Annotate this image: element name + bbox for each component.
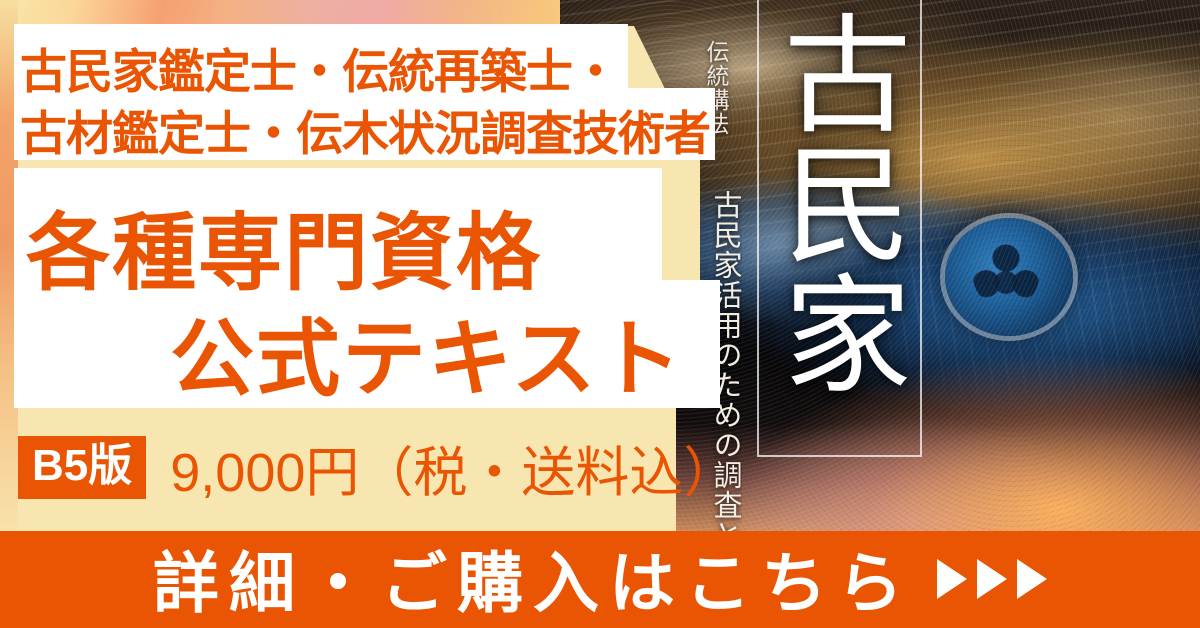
- cta-label: 詳細・ご購入はこちら: [153, 530, 913, 626]
- chevron-right-icon: [977, 559, 1007, 599]
- chevron-right-icon: [1017, 559, 1047, 599]
- cta-arrow-group: [937, 559, 1047, 599]
- qualification-list-line-2: 古材鑑定士・伝木状況調査技術者: [20, 95, 710, 164]
- price-row: B5版 9,000円（税・送料込）: [18, 428, 737, 507]
- headline-line-1: 各種専門資格: [26, 186, 542, 307]
- chevron-right-icon: [937, 559, 967, 599]
- price-amount: 9,000円（税・送料込）: [170, 428, 737, 507]
- headline-line-2: 公式テキスト: [170, 292, 683, 413]
- promo-banner: 伝統構法 古民家 古民家活用のための調査と再生の 古民家鑑定士・伝統再築士・ 古…: [0, 0, 1200, 628]
- book-cover-title: 古民家: [782, 8, 902, 448]
- format-badge: B5版: [18, 436, 146, 499]
- cta-button-bar[interactable]: 詳細・ご購入はこちら: [0, 531, 1200, 628]
- qualification-list-line-1: 古民家鑑定士・伝統再築士・: [20, 33, 618, 102]
